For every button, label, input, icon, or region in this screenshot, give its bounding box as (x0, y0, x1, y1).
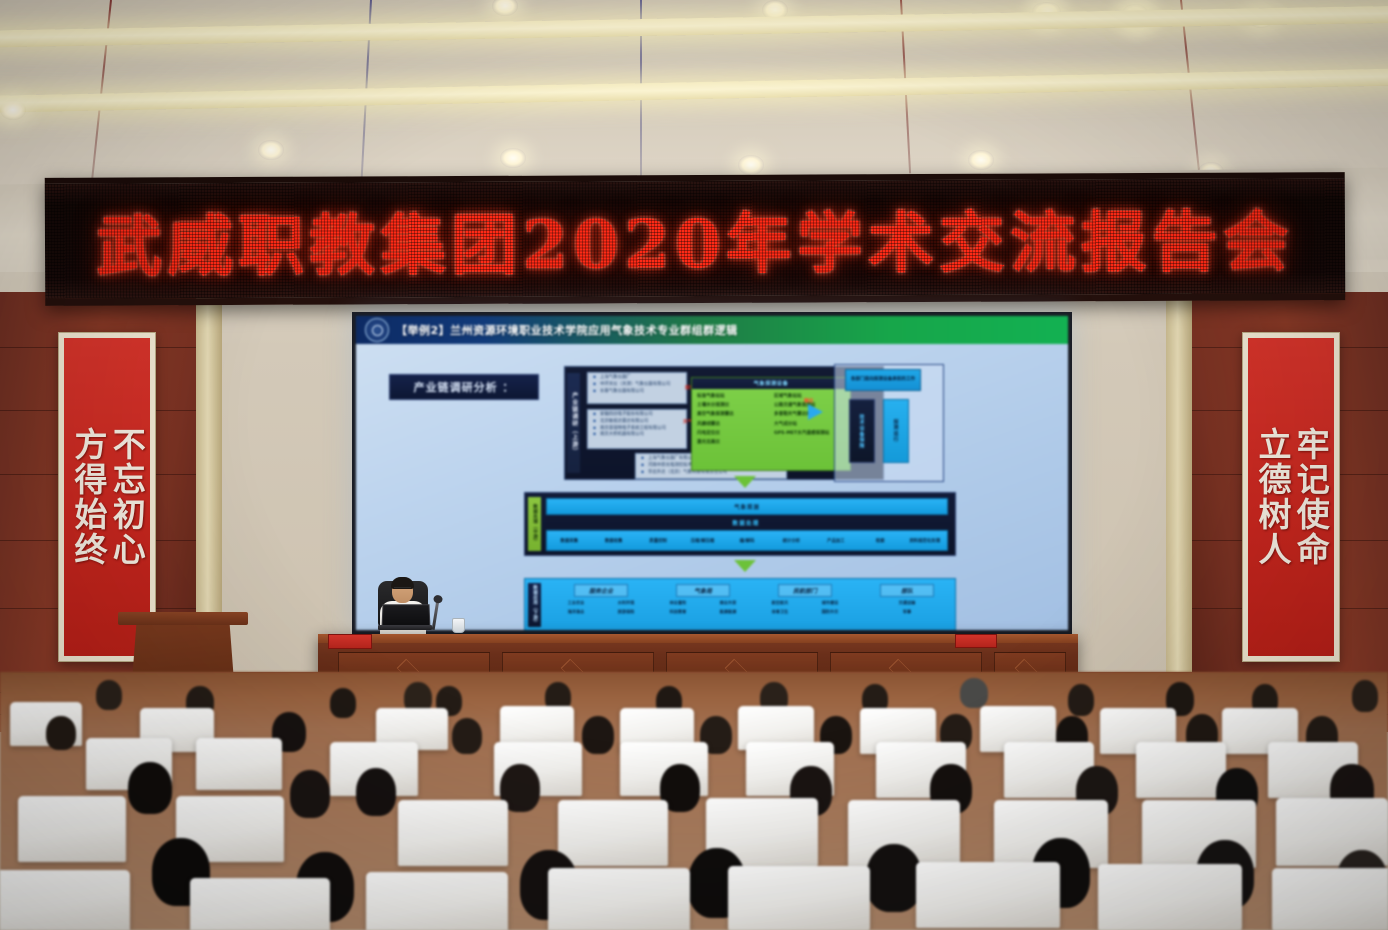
supplier-list-1: 上海气象仪器厂 中环天仪（天津）气象仪器有限公司 长春气象仪器有限公司 (587, 372, 687, 404)
name-plate-left (328, 634, 372, 649)
slogan-banner-right: 牢记使命 立德树人 (1242, 332, 1340, 662)
supplier-item: 上海气象仪器厂 (600, 375, 684, 382)
supplier-item: 安徽四创电子股份有限公司 (600, 412, 684, 419)
process-item: 数据采集 (547, 538, 591, 544)
university-logo-icon (365, 318, 389, 342)
ceiling-downlight (0, 100, 26, 120)
audience-head (96, 680, 122, 710)
slogan-banner-left-text: 不忘初心 方得始终 (69, 427, 146, 567)
ceiling-downlight (738, 155, 764, 175)
downstream-group-name: 民航部门 (793, 586, 817, 595)
audience-head (866, 844, 922, 912)
downstream-item: 林业畜牧 (653, 600, 703, 606)
audience-chair (0, 870, 130, 930)
downstream-group-name: 部队 (901, 586, 913, 595)
downstream-item: 体育卫生 (755, 609, 805, 615)
midstream-vertical-label-text: 数据处理（中游） (532, 504, 538, 544)
ceiling-downlight (258, 140, 284, 160)
process-item: 检索 (858, 538, 902, 544)
process-item: 数据收集 (591, 538, 635, 544)
supplier-item: 长春气象仪器有限公司 (600, 389, 684, 396)
upstream-vertical-label-text: 产业链调研（上游） (570, 392, 577, 455)
equipment-item: 土壤水分观测仪 (697, 402, 768, 408)
ceiling-seam (91, 0, 112, 179)
audience-head (960, 678, 988, 708)
slide-section-tag-label: 产业链调研分析 ： (414, 379, 515, 395)
audience-head (356, 768, 396, 816)
downstream-item: 军事 (857, 609, 957, 615)
audience-head (330, 688, 356, 718)
slide-title: 【举例2】兰州资源环境职业技术学院应用气象技术专业群组群逻辑 (396, 322, 738, 338)
ceiling-downlight (500, 148, 526, 168)
audience-head (452, 718, 482, 754)
led-pixel-grid (45, 178, 1345, 299)
department-col-support: 技术设备保障 (849, 399, 875, 463)
audience-chair (558, 800, 668, 866)
department-col-operation: 探测运行 (883, 399, 909, 463)
midstream-top-bar-text: 气象观测 (734, 503, 760, 511)
process-items-row: 数据采集 数据收集 质量控制 压缩/解压缩 编/解码 统计分析 产品加工 检索 … (546, 530, 948, 551)
equipment-item: 激光云高仪 (697, 439, 768, 445)
downstream-group-weather-bureau: 气象局 林业畜牧 科技教育 商业外贸 能源能源 (653, 584, 753, 618)
midstream-block: 数据处理（中游） 气象观测 数据处理 数据采集 数据收集 质量控制 压缩/解压缩… (524, 492, 956, 556)
downstream-group-name: 气象局 (694, 586, 712, 595)
downstream-item: 旅游保险 (601, 609, 651, 615)
downstream-item: 水利环境 (601, 600, 651, 606)
department-panel-heading-text: 各部门面向探测设备承担的工作 (851, 377, 915, 383)
audience-chair (398, 800, 508, 866)
supplier-item: 南京大桥机器有限公司 (600, 432, 684, 439)
audience-chair (1098, 864, 1242, 930)
equipment-item: 高空气象探测雷达 (697, 411, 768, 417)
department-col-support-text: 技术设备保障 (859, 414, 866, 449)
process-title: 数据处理 (546, 518, 946, 528)
downstream-item: 工业农业 (551, 600, 601, 606)
water-cup (452, 618, 465, 633)
process-item: 质量控制 (636, 538, 680, 544)
led-banner: 武威职教集团2020年学术交流报告会 (45, 172, 1346, 306)
midstream-vertical-label: 数据处理（中游） (528, 497, 541, 551)
downstream-item: 交通运输 (857, 600, 957, 606)
equipment-column-left: 标准气象站站 土壤水分观测仪 高空气象探测雷达 风廓线雷达 闪电定位仪 激光云高… (697, 393, 768, 448)
conference-hall-photo: 武威职教集团2020年学术交流报告会 不忘初心 方得始终 牢记使命 立德树人 【… (0, 0, 1388, 930)
down-arrow-icon (734, 560, 756, 572)
ceiling-downlight (492, 0, 518, 16)
cove-light-strip (0, 67, 1388, 113)
audience-chair (916, 862, 1060, 928)
midstream-top-bar: 气象观测 (546, 498, 948, 515)
downstream-item: 商业外贸 (703, 600, 753, 606)
audience-chair (1272, 868, 1388, 930)
process-item: 编/解码 (725, 538, 769, 544)
audience-head (1352, 680, 1378, 712)
equipment-box-title: 气象探测设备 (754, 380, 789, 387)
laptop-computer (378, 604, 432, 630)
audience-head (1068, 684, 1094, 716)
presentation-slide: 【举例2】兰州资源环境职业技术学院应用气象技术专业群组群逻辑 产业链调研分析 ：… (356, 316, 1068, 630)
laptop-base (378, 625, 432, 630)
presenter-glasses (394, 587, 411, 592)
name-plate-right (955, 634, 997, 648)
audience-chair (1136, 742, 1226, 798)
audience-chair (18, 796, 126, 862)
flow-arrow-label: 输出 (804, 398, 813, 404)
audience-head (290, 770, 330, 818)
equipment-box-header: 气象探测设备 (692, 378, 850, 389)
equipment-item: 闪电定位仪 (697, 430, 768, 436)
downstream-item: 科技教育 (653, 609, 703, 615)
process-item: 压缩/解压缩 (680, 538, 724, 544)
process-item: 产品加工 (814, 538, 858, 544)
downstream-block: 数据应用（下游） 服务企业 工业农业 海洋渔业 水利环境 旅游保险 (524, 578, 956, 630)
slide-section-tag: 产业链调研分析 ： (389, 374, 539, 400)
cove-light-strip (0, 5, 1388, 49)
downstream-group-civil-aviation: 民航部门 航空航天 体育卫生 城市建设 国防外交 (755, 584, 855, 618)
audience-chair (190, 878, 330, 930)
audience-head (128, 762, 172, 814)
downstream-item: 海洋渔业 (551, 609, 601, 615)
audience-chair (728, 866, 870, 930)
slogan-banner-right-text: 牢记使命 立德树人 (1253, 427, 1330, 567)
downstream-group-name: 服务企业 (589, 586, 613, 595)
supplier-item: 中环天仪（天津）气象仪器有限公司 (600, 382, 684, 389)
wall-pilaster (1166, 292, 1192, 692)
department-panel-heading: 各部门面向探测设备承担的工作 (845, 369, 921, 391)
department-col-operation-text: 探测运行 (893, 419, 900, 442)
downstream-group-service: 服务企业 工业农业 海洋渔业 水利环境 旅游保险 (551, 584, 651, 618)
supplier-list-2: 安徽四创电子股份有限公司 北京敏视达雷达有限公司 南京恩瑞特电子系统工程有限公司… (587, 409, 687, 449)
downstream-item: 航空航天 (755, 600, 805, 606)
slide-header: 【举例2】兰州资源环境职业技术学院应用气象技术专业群组群逻辑 (356, 316, 1068, 344)
downstream-item: 国防外交 (805, 609, 855, 615)
audience-head (582, 716, 614, 754)
process-title-text: 数据处理 (732, 519, 759, 527)
downstream-vertical-label-text: 数据应用（下游） (532, 585, 538, 625)
process-item: 统计分析 (769, 538, 813, 544)
audience-area (0, 672, 1388, 930)
audience-head (46, 716, 76, 750)
projection-screen: 【举例2】兰州资源环境职业技术学院应用气象技术专业群组群逻辑 产业链调研分析 ：… (352, 312, 1072, 634)
equipment-box: 气象探测设备 标准气象站站 土壤水分观测仪 高空气象探测雷达 风廓线雷达 闪电定… (691, 377, 851, 471)
ceiling-downlight (968, 150, 994, 170)
audience-chair (548, 868, 690, 930)
supplier-item: 北京敏视达雷达有限公司 (600, 419, 684, 426)
flow-arrow-right-icon (808, 404, 823, 420)
downstream-group-military: 部队 交通运输 军事 (857, 584, 957, 618)
department-panel: 各部门面向探测设备承担的工作 技术设备保障 探测运行 (834, 364, 944, 482)
upstream-vertical-label: 产业链调研（上游） (567, 373, 580, 473)
podium-top (118, 612, 248, 625)
audience-chair (196, 738, 282, 790)
downstream-vertical-label: 数据应用（下游） (528, 583, 541, 627)
process-item: 资料规范化处理 (903, 538, 947, 544)
equipment-item: 标准气象站站 (697, 393, 768, 399)
downstream-item: 城市建设 (805, 600, 855, 606)
audience-chair (366, 872, 508, 930)
downstream-item: 能源能源 (703, 609, 753, 615)
down-arrow-icon (734, 476, 756, 488)
equipment-item: 风廓线雷达 (697, 421, 768, 427)
